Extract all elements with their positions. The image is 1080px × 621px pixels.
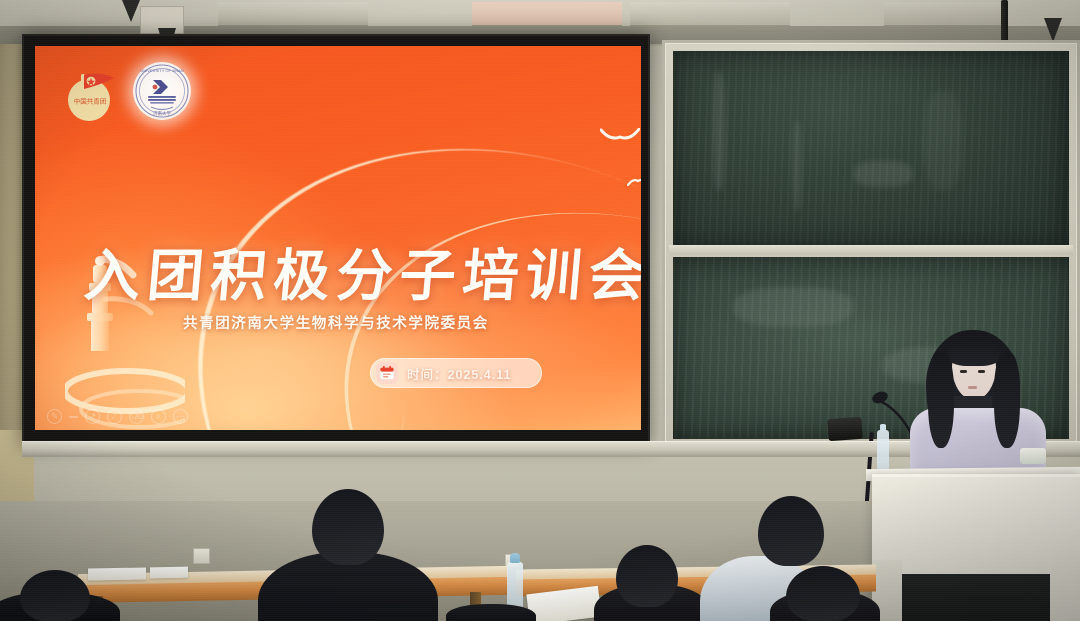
paper-sheet	[150, 567, 188, 579]
podium-water-bottle[interactable]	[877, 430, 889, 472]
audience-member-head	[786, 566, 860, 621]
presenter-hair-strand	[928, 352, 954, 448]
chalkboard-divider	[669, 245, 1073, 255]
audience-member-head	[312, 489, 384, 565]
lectern-base	[900, 574, 1050, 621]
presenter-eye	[960, 370, 967, 373]
audience-member-head	[20, 570, 90, 621]
highlighter-icon[interactable]: ∕	[107, 409, 122, 424]
ceiling-vent	[472, 2, 622, 26]
ppt-presenter-toolbar[interactable]: ✎ ↗ ∕ ⌫ ⌕ ⋯	[47, 409, 188, 424]
dove-silhouette-icon	[600, 128, 640, 146]
podium-cup[interactable]	[1020, 448, 1046, 464]
chalkboard-panel-upper	[673, 51, 1069, 249]
slide-title: 入团积极分子培训会	[81, 231, 618, 312]
ceiling-speaker-cone	[122, 0, 140, 22]
ceiling-vent	[218, 2, 368, 26]
pointer-icon[interactable]: ↗	[85, 409, 100, 424]
paper-sheet	[88, 567, 146, 580]
slide-subtitle: 共青团济南大学生物科学与技术学院委员会	[183, 312, 583, 333]
eraser-icon[interactable]: ⌫	[129, 409, 144, 424]
ceiling-speaker-cone	[1044, 18, 1062, 42]
blackboard-eraser[interactable]	[827, 417, 862, 441]
svg-text:济南大学: 济南大学	[153, 110, 171, 117]
slide-date-text: 时间：2025.4.11	[407, 364, 511, 383]
audience-member	[446, 604, 536, 621]
zoom-icon[interactable]: ⌕	[151, 409, 166, 424]
svg-text:UNIVERSITY OF JINAN: UNIVERSITY OF JINAN	[140, 68, 183, 73]
ceiling-vent	[884, 2, 1004, 26]
communist-youth-league-emblem: 中国共青团	[63, 66, 125, 124]
wall-outlet	[193, 548, 210, 564]
audience-member-head	[758, 496, 824, 566]
svg-text:中国共青团: 中国共青团	[74, 97, 107, 106]
presenter-hair-strand	[994, 352, 1020, 448]
presenter-eye	[978, 370, 985, 373]
ceiling-vent	[630, 2, 790, 26]
lecture-hall-photo: 中国共青团 UNIVERSITY OF JINAN 济南大学	[0, 0, 1080, 621]
presenter-mouth	[968, 386, 977, 389]
audience-member-head	[616, 545, 678, 607]
slide-date-pill: 时间：2025.4.11	[370, 358, 542, 388]
presentation-slide[interactable]: 中国共青团 UNIVERSITY OF JINAN 济南大学	[35, 46, 641, 430]
toolbar-divider	[69, 416, 78, 418]
more-icon[interactable]: ⋯	[173, 409, 188, 424]
pen-icon[interactable]: ✎	[47, 409, 62, 424]
calendar-icon	[376, 362, 398, 384]
university-of-jinan-seal-icon: UNIVERSITY OF JINAN 济南大学	[133, 62, 191, 120]
dove-silhouette-icon	[627, 174, 641, 184]
projection-screen[interactable]: 中国共青团 UNIVERSITY OF JINAN 济南大学	[22, 34, 650, 446]
